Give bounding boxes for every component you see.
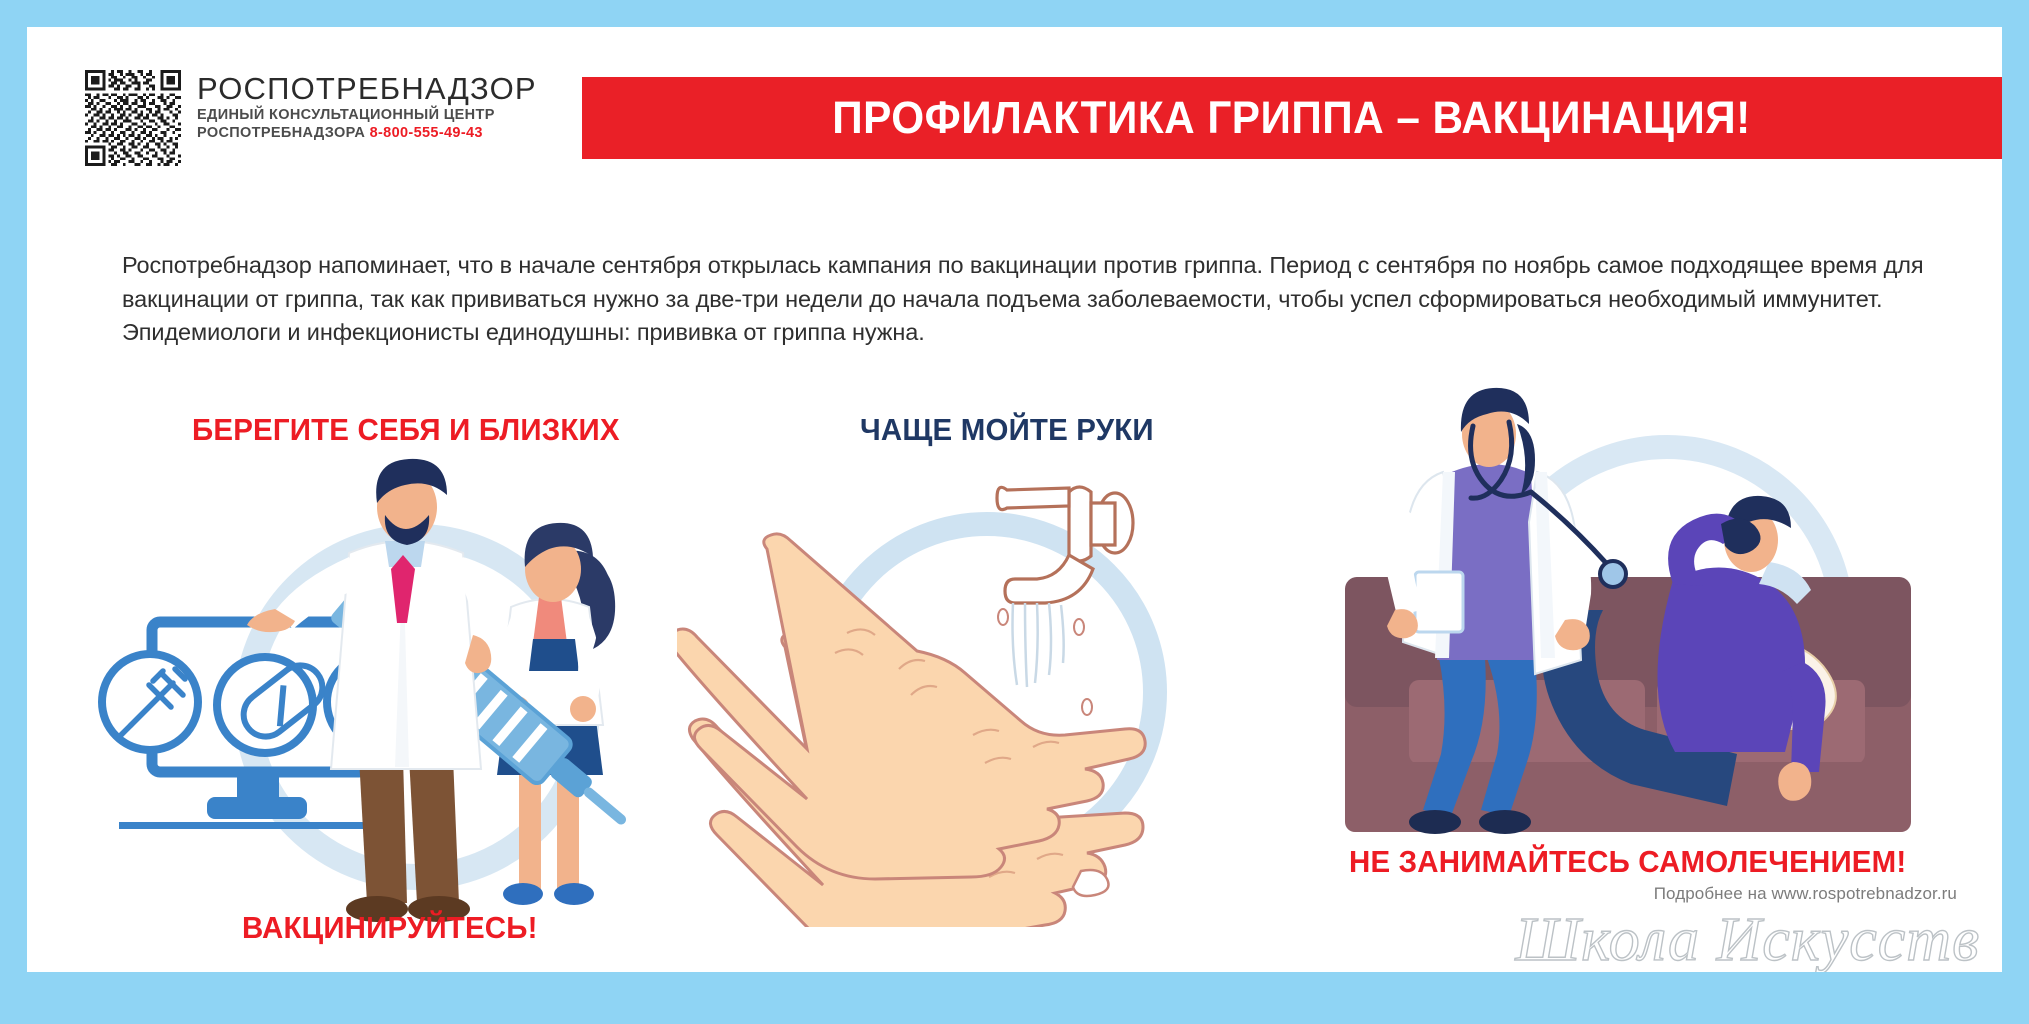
brand-name: РОСПОТРЕБНАДЗОР: [197, 72, 537, 106]
illustration-doctor-nurse-syringe: [87, 457, 707, 957]
panel-vaccination: БЕРЕГИТЕ СЕБЯ И БЛИЗКИХ: [87, 412, 707, 957]
illustration-doctor-patient-couch: [1317, 362, 1977, 862]
illustration-hand-washing: [677, 457, 1297, 927]
hotline-phone[interactable]: 8-800-555-49-43: [370, 125, 483, 141]
brand-text: РОСПОТРЕБНАДЗОР ЕДИНЫЙ КОНСУЛЬТАЦИОННЫЙ …: [197, 70, 537, 142]
panel-vaccination-title-bottom: ВАКЦИНИРУЙТЕСЬ!: [242, 910, 538, 946]
brand-subtitle-line1: ЕДИНЫЙ КОНСУЛЬТАЦИОННЫЙ ЦЕНТР: [197, 106, 537, 124]
panel-handwashing: ЧАЩЕ МОЙТЕ РУКИ: [677, 412, 1297, 912]
brand-block: РОСПОТРЕБНАДЗОР ЕДИНЫЙ КОНСУЛЬТАЦИОННЫЙ …: [85, 70, 537, 166]
water-stream: [1013, 603, 1064, 687]
intro-paragraph: Роспотребнадзор напоминает, что в начале…: [122, 249, 1967, 350]
poster-header: РОСПОТРЕБНАДЗОР ЕДИНЫЙ КОНСУЛЬТАЦИОННЫЙ …: [27, 27, 2002, 187]
headline-banner: ПРОФИЛАКТИКА ГРИППА – ВАКЦИНАЦИЯ!: [582, 77, 2002, 159]
poster-root: РОСПОТРЕБНАДЗОР ЕДИНЫЙ КОНСУЛЬТАЦИОННЫЙ …: [0, 0, 2029, 1024]
more-info-link[interactable]: Подробнее на www.rospotrebnadzor.ru: [1654, 884, 1957, 904]
watermark-text: Школа Искусств: [1515, 905, 1980, 972]
panel-handwashing-title: ЧАЩЕ МОЙТЕ РУКИ: [860, 412, 1154, 448]
headline-title: ПРОФИЛАКТИКА ГРИППА – ВАКЦИНАЦИЯ!: [833, 92, 1751, 144]
qr-code-icon: [85, 70, 181, 166]
poster-sheet: РОСПОТРЕБНАДЗОР ЕДИНЫЙ КОНСУЛЬТАЦИОННЫЙ …: [27, 27, 2002, 972]
panel-selfmedication-title: НЕ ЗАНИМАЙТЕСЬ САМОЛЕЧЕНИЕМ!: [1349, 844, 1906, 880]
brand-subtitle-line2: РОСПОТРЕБНАДЗОРА 8-800-555-49-43: [197, 124, 537, 142]
brand-subtitle-org: РОСПОТРЕБНАДЗОРА: [197, 125, 365, 141]
panel-selfmedication: НЕ ЗАНИМАЙТЕСЬ САМОЛЕЧЕНИЕМ!: [1317, 362, 1977, 922]
panel-vaccination-title-top: БЕРЕГИТЕ СЕБЯ И БЛИЗКИХ: [192, 412, 620, 448]
